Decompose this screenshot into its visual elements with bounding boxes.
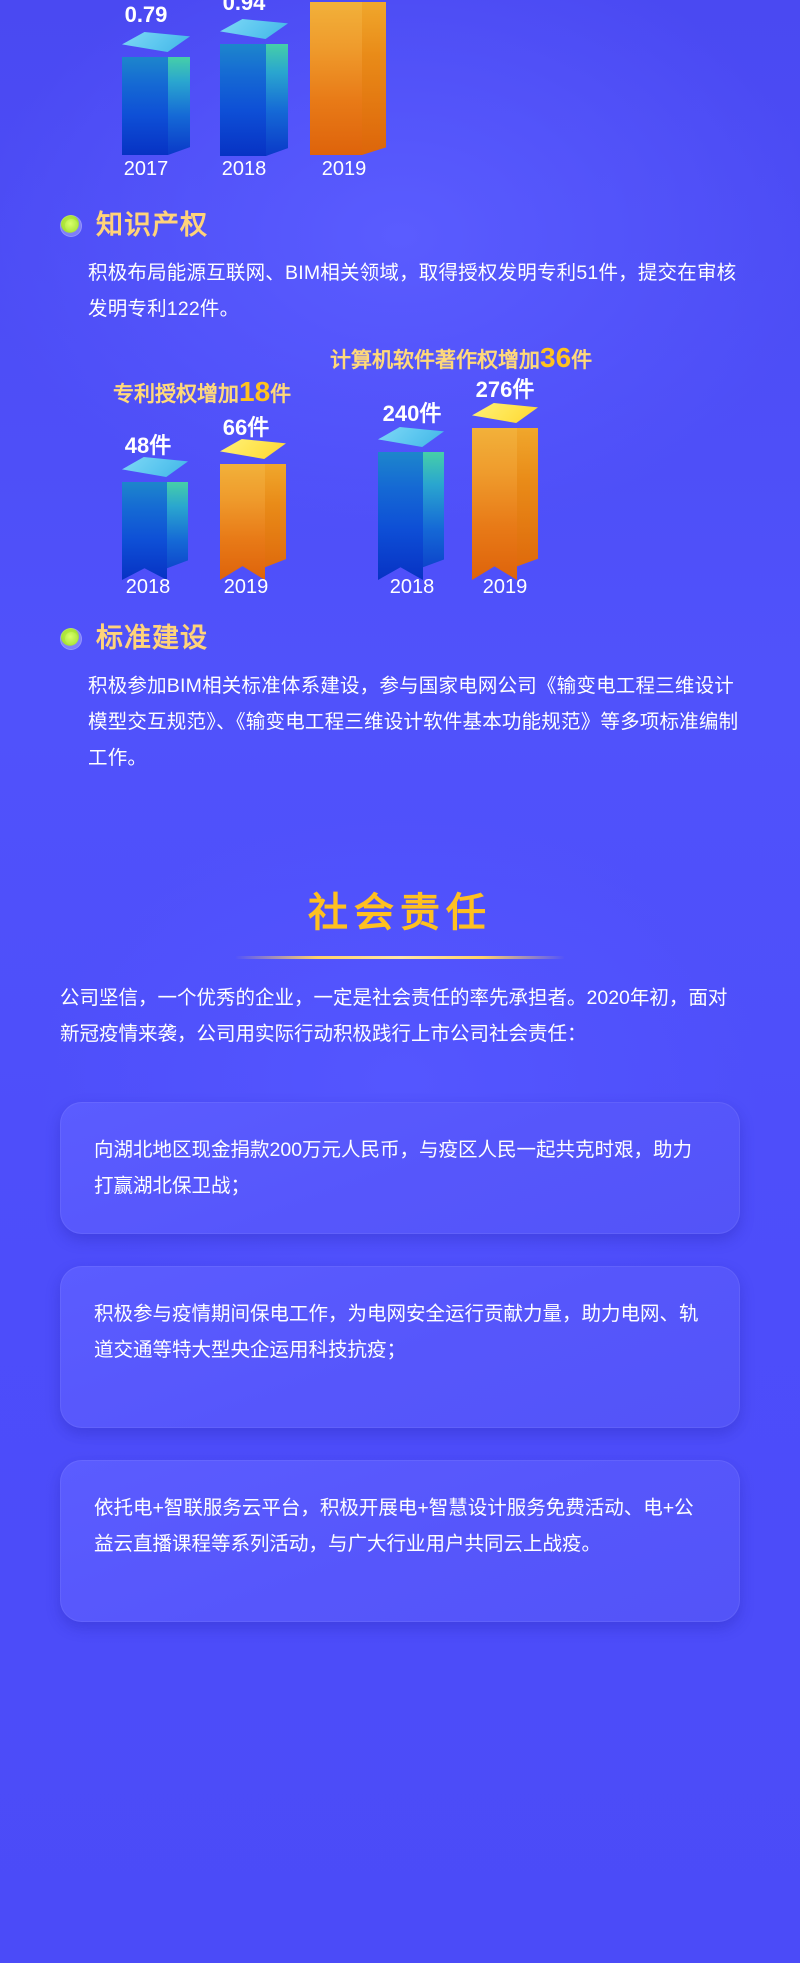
- section-heading-standards: 标准建设: [0, 625, 800, 652]
- bar-2017: [122, 45, 190, 155]
- social-responsibility-intro: 公司坚信，一个优秀的企业，一定是社会责任的率先承担者。2020年初，面对新冠疫情…: [0, 980, 800, 1052]
- bar-value-label: 276件: [460, 372, 550, 404]
- bar-top: [122, 457, 188, 477]
- bar-side: [423, 452, 444, 580]
- bar-front: [378, 452, 423, 580]
- bar-year-label: 2018: [206, 158, 282, 181]
- bullet-dot-icon: [60, 215, 82, 237]
- chart-title-software: 计算机软件著作权增加36件: [330, 342, 592, 374]
- bar-front: [122, 57, 168, 155]
- chart-title-prefix: 专利授权增加: [113, 383, 239, 406]
- bar-2019-software: [472, 416, 538, 580]
- section-paragraph-intellectual-property: 积极布局能源互联网、BIM相关领域，取得授权发明专利51件，提交在审核发明专利1…: [0, 255, 800, 327]
- bar-side: [168, 57, 190, 155]
- bar-year-label: 2019: [306, 158, 382, 181]
- bar-side: [266, 44, 288, 156]
- bar-value-label: 0.79: [108, 2, 184, 28]
- bar-front: [220, 464, 265, 580]
- bar-year-label: 2019: [460, 576, 550, 599]
- title-divider: [235, 956, 565, 959]
- responsibility-card: 积极参与疫情期间保电工作，为电网安全运行贡献力量，助力电网、轨道交通等特大型央企…: [60, 1266, 740, 1428]
- bar-side: [362, 2, 386, 155]
- bar-side: [167, 482, 188, 580]
- bar-year-label: 2018: [110, 576, 186, 599]
- bar-2018: [220, 32, 288, 156]
- bar-value-label: 66件: [208, 410, 284, 442]
- bar-2019: [310, 0, 386, 155]
- responsibility-card-text: 积极参与疫情期间保电工作，为电网安全运行贡献力量，助力电网、轨道交通等特大型央企…: [94, 1303, 699, 1361]
- responsibility-card-text: 向湖北地区现金捐款200万元人民币，与疫区人民一起共克时艰，助力打赢湖北保卫战；: [94, 1139, 692, 1197]
- bar-front: [122, 482, 167, 580]
- page-title-social-responsibility: 社会责任: [0, 880, 800, 938]
- bar-value-label: 48件: [110, 428, 186, 460]
- bar-year-label: 2019: [208, 576, 284, 599]
- bar-2018-patent: [122, 470, 188, 580]
- section-title: 知识产权: [96, 212, 208, 239]
- section-title: 标准建设: [96, 625, 208, 652]
- chart-title-patent: 专利授权增加18件: [113, 376, 291, 408]
- responsibility-card: 向湖北地区现金捐款200万元人民币，与疫区人民一起共克时艰，助力打赢湖北保卫战；: [60, 1102, 740, 1234]
- responsibility-card-text: 依托电+智联服务云平台，积极开展电+智慧设计服务免费活动、电+公益云直播课程等系…: [94, 1497, 694, 1555]
- chart-title-suffix: 件: [270, 383, 291, 406]
- infographic-page: 0.79 0.94 2017 2018 2019 知识产权: [0, 0, 800, 1963]
- bar-2019-patent: [220, 452, 286, 580]
- bar-year-label: 2017: [108, 158, 184, 181]
- bar-top: [122, 32, 190, 52]
- bar-top: [220, 439, 286, 459]
- chart-title-suffix: 件: [571, 349, 592, 372]
- bar-year-label: 2018: [367, 576, 457, 599]
- chart-title-number: 36: [540, 342, 571, 373]
- section-heading-intellectual-property: 知识产权: [0, 212, 800, 239]
- bar-top: [220, 19, 288, 39]
- software-copyright-chart: 计算机软件著作权增加36件 240件 276件 2018 2019: [330, 340, 800, 610]
- chart-title-number: 18: [239, 376, 270, 407]
- responsibility-card: 依托电+智联服务云平台，积极开展电+智慧设计服务免费活动、电+公益云直播课程等系…: [60, 1460, 740, 1622]
- bullet-dot-icon: [60, 628, 82, 650]
- bar-top: [378, 427, 444, 447]
- bar-front: [472, 428, 517, 580]
- top-ratio-chart: 0.79 0.94 2017 2018 2019: [0, 0, 800, 200]
- bar-top: [472, 403, 538, 423]
- bar-value-label: 240件: [367, 396, 457, 428]
- section-paragraph-standards: 积极参加BIM相关标准体系建设，参与国家电网公司《输变电工程三维设计模型交互规范…: [0, 668, 800, 776]
- patent-authorization-chart: 专利授权增加18件 48件 66件 2018 2019: [0, 340, 330, 610]
- bar-front: [310, 2, 362, 155]
- bar-value-label: 0.94: [206, 0, 282, 16]
- chart-title-prefix: 计算机软件著作权增加: [330, 349, 540, 372]
- bar-side: [265, 464, 286, 580]
- bar-front: [220, 44, 266, 156]
- bar-side: [517, 428, 538, 580]
- bar-2018-software: [378, 440, 444, 580]
